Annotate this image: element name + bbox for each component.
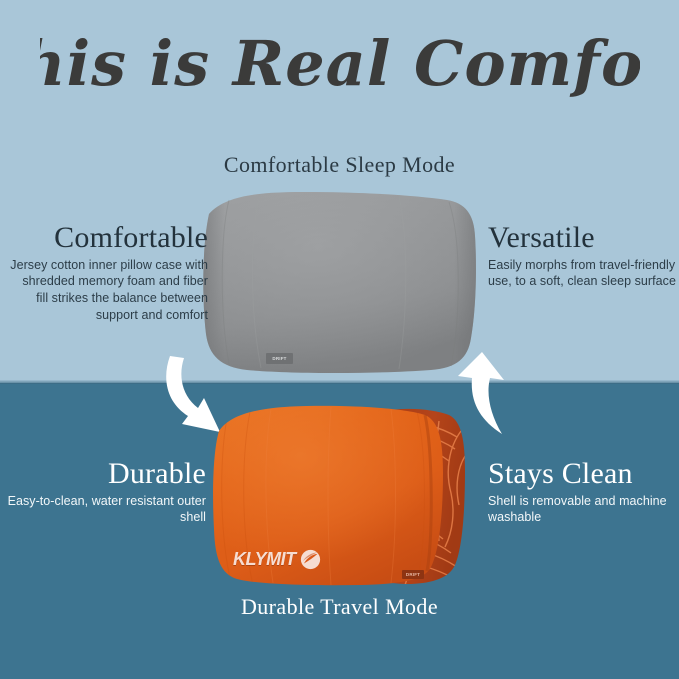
feature-durable-body: Easy-to-clean, water resistant outer she… — [6, 493, 206, 527]
headline-text: This is Real Comfort — [40, 27, 640, 100]
background-seam-divider — [0, 380, 679, 384]
feature-durable-title: Durable — [6, 458, 206, 490]
feature-durable: Durable Easy-to-clean, water resistant o… — [6, 458, 206, 526]
klymit-wordmark: KLYMIT — [233, 549, 296, 570]
headline: This is Real Comfort — [0, 14, 679, 120]
feature-comfortable-body: Jersey cotton inner pillow case with shr… — [8, 257, 208, 325]
feature-versatile-body: Easily morphs from travel-friendly use, … — [488, 257, 678, 291]
klymit-logo: KLYMIT — [233, 549, 321, 570]
top-section-caption: Comfortable Sleep Mode — [0, 152, 679, 178]
feature-stays-clean-title: Stays Clean — [488, 458, 678, 490]
infographic-poster: This is Real Comfort Comfortable Sleep M… — [0, 0, 679, 679]
bottom-section-caption: Durable Travel Mode — [0, 594, 679, 620]
gray-pillow-tag: DRIFT — [266, 353, 293, 364]
feature-comfortable-title: Comfortable — [8, 222, 208, 254]
feature-stays-clean: Stays Clean Shell is removable and machi… — [488, 458, 678, 526]
feature-stays-clean-body: Shell is removable and machine washable — [488, 493, 678, 527]
gray-pillow-image — [199, 188, 481, 376]
feature-versatile-title: Versatile — [488, 222, 678, 254]
klymit-swoosh-icon — [300, 549, 321, 570]
orange-pillow-tag: DRIFT — [402, 570, 424, 579]
feature-versatile: Versatile Easily morphs from travel-frie… — [488, 222, 678, 290]
feature-comfortable: Comfortable Jersey cotton inner pillow c… — [8, 222, 208, 324]
